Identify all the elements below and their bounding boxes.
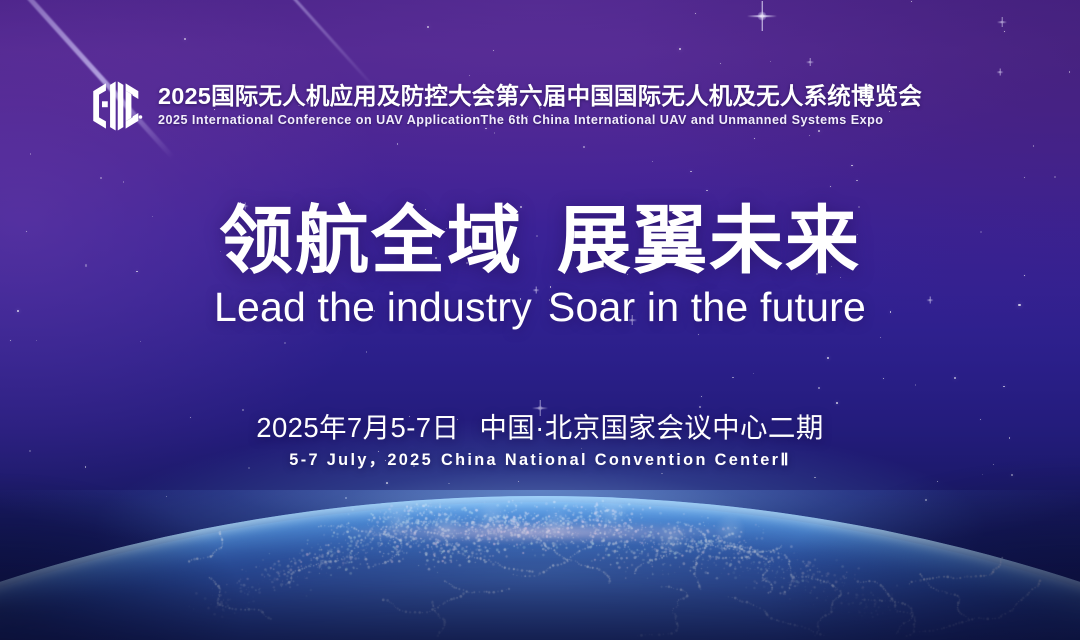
star [184,38,186,40]
star [583,146,585,148]
star [754,138,755,139]
sparkle-icon [806,58,814,66]
star [698,334,699,335]
earth-sphere [0,502,1080,640]
star [1003,386,1005,388]
earth-atmosphere-rim [0,496,1080,640]
star [925,499,927,501]
star [1033,145,1034,146]
banner-header: 2025国际无人机应用及防控大会第六届中国国际无人机及无人系统博览会 2025 … [88,78,922,134]
conference-title-en: 2025 International Conference on UAV App… [158,114,922,128]
star [856,180,858,182]
earth-warm-rim-glow [280,512,800,546]
star [701,396,702,397]
star [100,177,102,179]
star [770,61,771,62]
star [1024,177,1025,178]
star [814,477,816,479]
star [493,50,494,51]
event-date-cn: 2025年7月5-7日 [256,412,459,443]
star [695,13,696,14]
conference-banner: 2025国际无人机应用及防控大会第六届中国国际无人机及无人系统博览会 2025 … [0,0,1080,640]
event-venue-cn: 中国·北京国家会议中心二期 [479,412,823,443]
star [883,378,884,379]
star [661,473,663,475]
event-venue-en: China National Convention CenterⅡ [441,451,791,469]
star [518,481,520,483]
sparkle-icon [997,69,1004,76]
star [30,153,32,155]
star [851,165,853,167]
star [954,377,956,379]
headline-block: 领航全域展翼未来 Lead the industrySoar in the fu… [0,204,1080,329]
star [140,341,141,342]
star [753,373,754,374]
event-info-en: 5-7 July，2025China National Convention C… [0,451,1080,470]
star [911,1,912,2]
star [830,186,831,187]
earth-horizon-graphic [0,450,1080,640]
slogan-cn: 领航全域展翼未来 [0,204,1080,278]
star [836,402,838,404]
star [166,496,167,497]
header-text-block: 2025国际无人机应用及防控大会第六届中国国际无人机及无人系统博览会 2025 … [158,84,922,127]
star [827,357,829,359]
star [1011,474,1013,476]
star [1054,176,1056,178]
star [10,340,11,341]
star [1004,31,1005,32]
star [706,190,708,192]
slogan-en-part1: Lead the industry [214,284,532,330]
slogan-en-part2: Soar in the future [548,284,866,330]
star [427,26,429,28]
earth-limb-shading [0,450,1080,640]
star [366,351,368,353]
star [699,406,701,408]
star [448,483,450,485]
star [720,63,721,64]
star [284,342,286,344]
slogan-en: Lead the industrySoar in the future [0,286,1080,329]
star [1069,71,1071,73]
star [397,143,399,145]
slogan-cn-part2: 展翼未来 [557,199,861,282]
event-info-block: 2025年7月5-7日中国·北京国家会议中心二期 5-7 July，2025Ch… [0,412,1080,470]
event-info-cn: 2025年7月5-7日中国·北京国家会议中心二期 [0,412,1080,444]
slogan-cn-part1: 领航全域 [219,199,523,282]
star [915,384,917,386]
event-date-en: 5-7 July，2025 [289,451,433,469]
star [679,48,681,50]
star [36,340,37,341]
star [937,481,939,483]
star [732,377,734,379]
uuc-hexagon-logo-icon [88,78,144,134]
conference-title-cn: 2025国际无人机应用及防控大会第六届中国国际无人机及无人系统博览会 [158,84,922,109]
star [809,135,810,136]
star [469,75,470,76]
star [652,161,653,162]
sparkle-icon [747,1,777,31]
star [982,474,983,475]
star [345,497,347,499]
city-lights-canvas [0,450,1080,640]
star [690,171,692,173]
sparkle-icon [997,17,1007,27]
star [123,181,125,183]
star [818,387,820,389]
earth-haze [0,490,1080,640]
star [386,482,388,484]
star [880,337,881,338]
